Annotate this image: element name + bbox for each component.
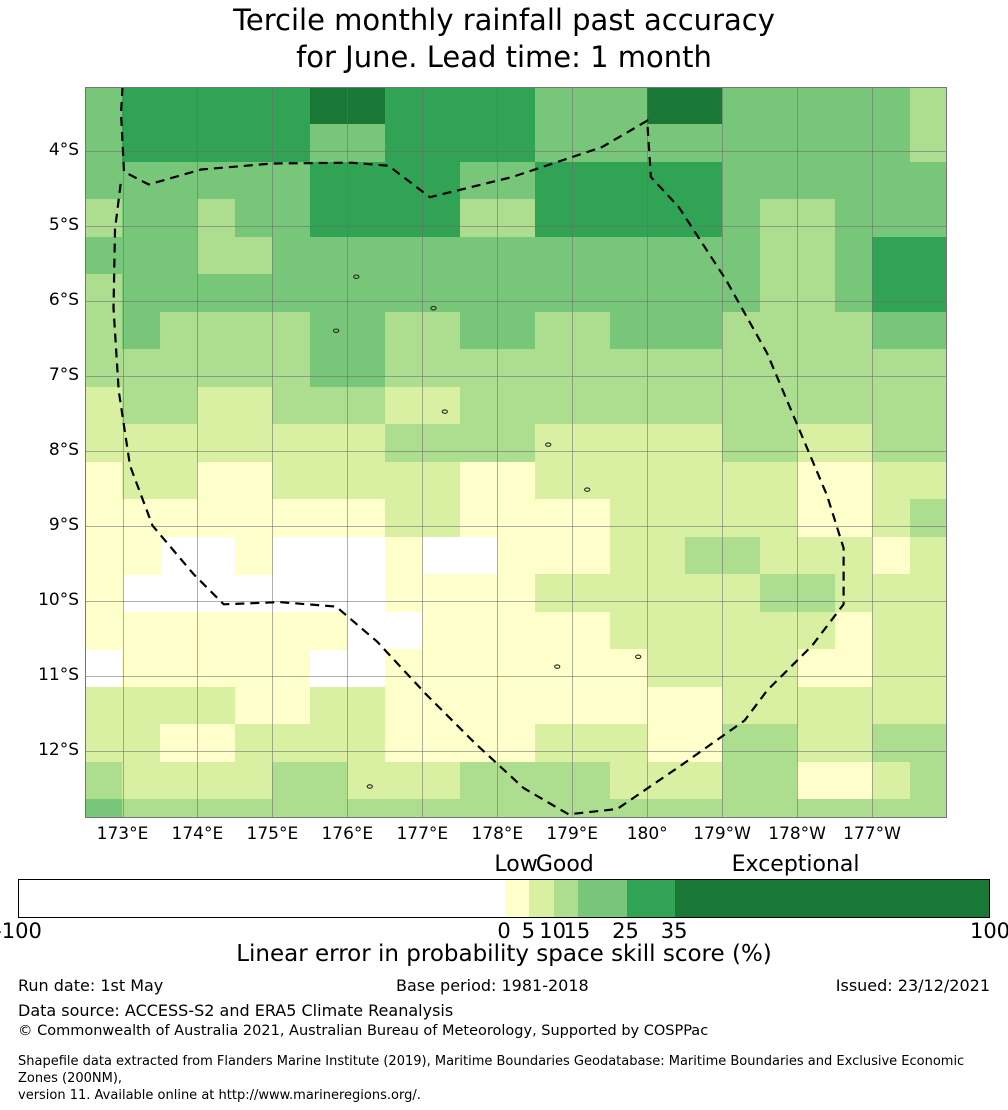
colorbar-tick: -100	[0, 920, 42, 942]
y-axis-tick: 7°S	[3, 367, 79, 384]
colorbar-segment	[675, 880, 990, 917]
y-axis-tick: 10°S	[3, 592, 79, 609]
shapefile-note: Shapefile data extracted from Flanders M…	[18, 1053, 1008, 1104]
colorbar-segment	[19, 880, 506, 917]
colorbar-tick: 10	[539, 920, 566, 942]
colorbar-tick: 15	[564, 920, 591, 942]
colorbar-caption: Exceptional	[732, 852, 860, 877]
colorbar-tick: 25	[612, 920, 639, 942]
run-date: Run date: 1st May	[18, 976, 163, 996]
colorbar-caption: Low	[494, 852, 537, 877]
y-axis-tick: 5°S	[3, 217, 79, 234]
colorbar-segment	[578, 880, 627, 917]
base-period: Base period: 1981-2018	[396, 976, 589, 996]
issued-date: Issued: 23/12/2021	[836, 976, 990, 996]
colorbar-segment	[529, 880, 554, 917]
map-plot-area	[85, 87, 947, 818]
x-axis-tick: 174°E	[172, 824, 224, 845]
x-axis-tick: 178°W	[768, 824, 826, 845]
x-axis-tick: 176°E	[321, 824, 373, 845]
y-axis-tick: 8°S	[3, 442, 79, 459]
colorbar-tick: 0	[497, 920, 510, 942]
x-axis-tick: 177°E	[396, 824, 448, 845]
eez-boundary-line	[85, 87, 947, 818]
colorbar-tick: 100	[970, 920, 1008, 942]
y-axis-tick: 12°S	[3, 742, 79, 759]
x-axis-tick: 175°E	[247, 824, 299, 845]
y-axis-tick: 9°S	[3, 517, 79, 534]
colorbar-segment	[627, 880, 676, 917]
colorbar-tick: 35	[661, 920, 688, 942]
x-axis-longitude: 173°E174°E175°E176°E177°E178°E179°E180°1…	[0, 824, 1008, 850]
colorbar-caption: Good	[536, 852, 594, 877]
colorbar-tick: 5	[522, 920, 535, 942]
colorbar-label: Linear error in probability space skill …	[0, 941, 1008, 968]
copyright-note: © Commonwealth of Australia 2021, Austra…	[18, 1022, 708, 1040]
y-axis-tick: 4°S	[3, 142, 79, 159]
x-axis-tick: 180°	[627, 824, 668, 845]
y-axis-tick: 11°S	[3, 667, 79, 684]
page-title: Tercile monthly rainfall past accuracy f…	[0, 2, 1008, 76]
y-axis-tick: 6°S	[3, 292, 79, 309]
data-source: Data source: ACCESS-S2 and ERA5 Climate …	[18, 1001, 453, 1021]
eez-polyline	[114, 87, 844, 814]
x-axis-tick: 178°E	[471, 824, 523, 845]
x-axis-tick: 179°E	[546, 824, 598, 845]
colorbar-segment	[554, 880, 579, 917]
x-axis-tick: 179°W	[693, 824, 751, 845]
colorbar-segment	[505, 880, 530, 917]
colorbar-gradient	[18, 879, 990, 918]
x-axis-tick: 177°W	[843, 824, 901, 845]
x-axis-tick: 173°E	[97, 824, 149, 845]
colorbar: -1000510152535100LowGoodExceptional	[0, 852, 1008, 934]
